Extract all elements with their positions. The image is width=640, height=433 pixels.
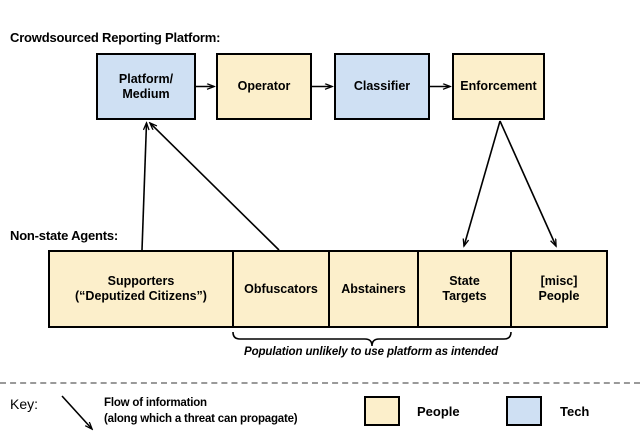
node-enforcement-label: Enforcement (460, 79, 536, 94)
agents-bar: Supporters (“Deputized Citizens”) Obfusc… (48, 250, 608, 328)
legend-swatch-tech-label: Tech (560, 404, 589, 419)
arrow-enforcement-to-state-targets (464, 121, 500, 246)
agent-cell-abstainers[interactable]: Abstainers (330, 252, 419, 326)
key-arrow-description: Flow of information (along which a threa… (104, 396, 297, 427)
node-platform-medium-label: Platform/ Medium (119, 72, 173, 102)
node-enforcement[interactable]: Enforcement (452, 53, 545, 120)
diagram-canvas: Crowdsourced Reporting Platform: Non-sta… (0, 0, 640, 433)
agent-cell-state-targets-label: State Targets (442, 274, 486, 304)
arrow-obfuscators-to-platform (150, 123, 279, 250)
arrow-enforcement-to-misc-people (500, 121, 556, 246)
agent-cell-obfuscators[interactable]: Obfuscators (234, 252, 330, 326)
agent-cell-misc-people[interactable]: [misc] People (512, 252, 606, 326)
population-brace (233, 332, 511, 346)
agent-cell-supporters-label: Supporters (“Deputized Citizens”) (75, 274, 207, 304)
node-classifier[interactable]: Classifier (334, 53, 430, 120)
agent-cell-misc-people-label: [misc] People (539, 274, 580, 304)
agent-cell-obfuscators-label: Obfuscators (244, 282, 318, 297)
population-brace-caption: Population unlikely to use platform as i… (244, 346, 498, 358)
agent-cell-state-targets[interactable]: State Targets (419, 252, 512, 326)
agent-cell-supporters[interactable]: Supporters (“Deputized Citizens”) (50, 252, 234, 326)
legend-swatch-people (364, 396, 400, 426)
key-divider (0, 382, 640, 384)
platform-section-label: Crowdsourced Reporting Platform: (10, 30, 220, 45)
arrow-supporters-to-platform (142, 123, 147, 250)
key-arrow-icon (62, 396, 92, 429)
node-classifier-label: Classifier (354, 79, 410, 94)
legend-swatch-tech (506, 396, 542, 426)
node-platform-medium[interactable]: Platform/ Medium (96, 53, 196, 120)
node-operator-label: Operator (238, 79, 291, 94)
key-title: Key: (10, 396, 38, 412)
legend-swatch-people-label: People (417, 404, 460, 419)
agent-cell-abstainers-label: Abstainers (341, 282, 406, 297)
node-operator[interactable]: Operator (216, 53, 312, 120)
agents-section-label: Non-state Agents: (10, 228, 118, 243)
